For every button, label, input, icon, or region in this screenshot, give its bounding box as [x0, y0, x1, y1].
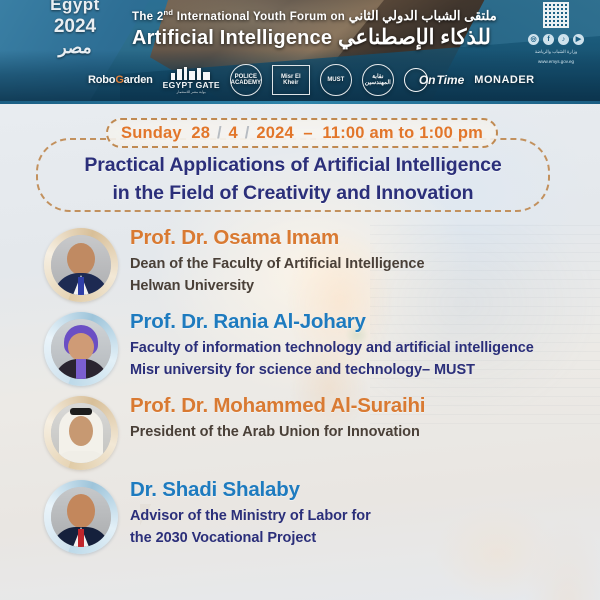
speaker-name: Prof. Dr. Rania Al-Johary — [130, 310, 534, 334]
syndicate-badge: نقابة المهندسين — [362, 64, 394, 96]
forum-title-ar-line1: ملتقى الشباب الدولي الثاني — [349, 8, 497, 23]
speaker-name: Prof. Dr. Mohammed Al-Suraihi — [130, 394, 425, 418]
monader-logo: MONADER — [474, 63, 534, 97]
egypt-gate-logo: EGYPT GATE بوابة مصر للاستثمار — [163, 63, 220, 97]
facebook-icon[interactable]: f — [543, 34, 554, 45]
date-time-dash: – — [303, 124, 312, 142]
host-country-ar: مصر — [20, 39, 130, 58]
speaker-item: Prof. Dr. Osama Imam Dean of the Faculty… — [0, 224, 600, 302]
avatar-osama-imam — [44, 228, 118, 302]
avatar-head — [67, 494, 95, 528]
avatar-igal — [70, 408, 92, 415]
qr-code-icon[interactable] — [543, 2, 569, 28]
session-date-m: 4 — [229, 124, 238, 142]
speaker-item: Dr. Shadi Shalaby Advisor of the Ministr… — [0, 476, 600, 554]
on-time-wordmark: On Time — [404, 68, 464, 92]
youtube-icon[interactable]: ▶ — [573, 34, 584, 45]
egypt-gate-subtext: بوابة مصر للاستثمار — [177, 90, 206, 94]
avatar-rania-al-johary — [44, 312, 118, 386]
speaker-detail-line: Advisor of the Ministry of Labor for — [130, 505, 371, 527]
avatar-head — [69, 416, 93, 446]
police-academy-emblem: POLICE ACADEMY — [230, 63, 262, 97]
sponsor-logo-row: RoboGarden EGYPT GATE بوابة مصر للاستثما… — [88, 60, 518, 100]
skyline-icon — [171, 67, 211, 80]
speaker-text: Dr. Shadi Shalaby Advisor of the Ministr… — [118, 476, 371, 549]
avatar-tie — [78, 529, 84, 547]
ministry-name-ar: وزارة الشباب والرياضة — [535, 49, 577, 55]
speaker-item: Prof. Dr. Mohammed Al-Suraihi President … — [0, 392, 600, 470]
police-academy-badge: POLICE ACADEMY — [230, 64, 262, 96]
session-date-d: 28 — [191, 124, 210, 142]
forum-title-en-prefix: The 2 — [132, 11, 164, 23]
date-separator-2: / — [243, 124, 252, 142]
avatar-scarf — [76, 359, 86, 379]
speaker-text: Prof. Dr. Rania Al-Johary Faculty of inf… — [118, 308, 534, 381]
avatar-photo — [51, 403, 111, 463]
robogarden-wordmark: RoboGarden — [88, 74, 153, 86]
host-year: 2024 — [20, 17, 130, 38]
session-date-pill: Sunday 28 / 4 / 2024 – 11:00 am to 1:00 … — [106, 118, 498, 148]
forum-title-ar-line2: للذكاء الإصطناعي — [338, 26, 491, 49]
engineering-syndicate-emblem: نقابة المهندسين — [362, 63, 394, 97]
event-poster: Egypt 2024 مصر The 2nd International You… — [0, 0, 600, 600]
session-title-line2: in the Field of Creativity and Innovatio… — [40, 180, 546, 208]
avatar-tie — [78, 277, 84, 295]
speaker-text: Prof. Dr. Mohammed Al-Suraihi President … — [118, 392, 425, 443]
avatar-photo — [51, 319, 111, 379]
on-time-text-a: On — [419, 73, 436, 87]
avatar-photo — [51, 235, 111, 295]
on-time-text-b: Time — [436, 73, 464, 87]
session-title-line1: Practical Applications of Artificial Int… — [40, 152, 546, 180]
instagram-icon[interactable]: ◎ — [528, 34, 539, 45]
poster-header: Egypt 2024 مصر The 2nd International You… — [0, 0, 600, 104]
speaker-name: Dr. Shadi Shalaby — [130, 478, 371, 502]
forum-title: The 2nd International Youth Forum on ملت… — [132, 8, 532, 50]
social-links-row: ◎ f ♪ ▶ — [528, 34, 584, 45]
robogarden-logo: RoboGarden — [88, 63, 153, 97]
speaker-detail-line: Misr university for science and technolo… — [130, 359, 534, 381]
speaker-name: Prof. Dr. Osama Imam — [130, 226, 424, 250]
avatar-mohammed-al-suraihi — [44, 396, 118, 470]
date-separator-1: / — [215, 124, 224, 142]
ministry-website[interactable]: www.emys.gov.eg — [538, 59, 574, 65]
avatar-head — [67, 243, 95, 275]
forum-title-en-rest: International Youth Forum on — [173, 11, 345, 23]
header-right-block: ◎ f ♪ ▶ وزارة الشباب والرياضة www.emys.g… — [520, 0, 592, 65]
must-university-emblem: MUST — [320, 63, 352, 97]
speaker-detail-line: the 2030 Vocational Project — [130, 527, 371, 549]
speaker-list: Prof. Dr. Osama Imam Dean of the Faculty… — [0, 224, 600, 560]
avatar-head — [68, 333, 94, 361]
speaker-text: Prof. Dr. Osama Imam Dean of the Faculty… — [118, 224, 424, 297]
session-date-y: 2024 — [256, 124, 294, 142]
speaker-item: Prof. Dr. Rania Al-Johary Faculty of inf… — [0, 308, 600, 386]
session-datetime-text: Sunday 28 / 4 / 2024 – 11:00 am to 1:00 … — [121, 124, 483, 143]
egypt-gate-wordmark: EGYPT GATE — [163, 80, 220, 90]
speaker-detail-line: Helwan University — [130, 275, 424, 297]
avatar-photo — [51, 487, 111, 547]
session-time-range: 11:00 am to 1:00 pm — [322, 124, 483, 142]
host-country-en: Egypt — [20, 0, 130, 15]
on-time-logo: On Time — [404, 63, 464, 97]
forum-title-en-ai: Artificial Intelligence — [132, 27, 332, 49]
misr-map-badge: Misr El Kheir — [272, 65, 310, 95]
speaker-detail-line: President of the Arab Union for Innovati… — [130, 421, 425, 443]
forum-title-line1: The 2nd International Youth Forum on ملت… — [132, 8, 532, 24]
must-badge: MUST — [320, 64, 352, 96]
misr-map-logo: Misr El Kheir — [272, 63, 310, 97]
speaker-detail-line: Dean of the Faculty of Artificial Intell… — [130, 253, 424, 275]
speaker-detail-line: Faculty of information technology and ar… — [130, 337, 534, 359]
tiktok-icon[interactable]: ♪ — [558, 34, 569, 45]
egypt-host-block: Egypt 2024 مصر — [20, 0, 130, 57]
session-title: Practical Applications of Artificial Int… — [40, 152, 546, 207]
forum-title-line2: Artificial Intelligence للذكاء الإصطناعي — [132, 25, 532, 50]
avatar-shadi-shalaby — [44, 480, 118, 554]
forum-title-ordinal: nd — [164, 8, 174, 17]
session-day: Sunday — [121, 124, 182, 142]
avatar-thobe — [55, 451, 107, 463]
monader-wordmark: MONADER — [474, 74, 534, 86]
